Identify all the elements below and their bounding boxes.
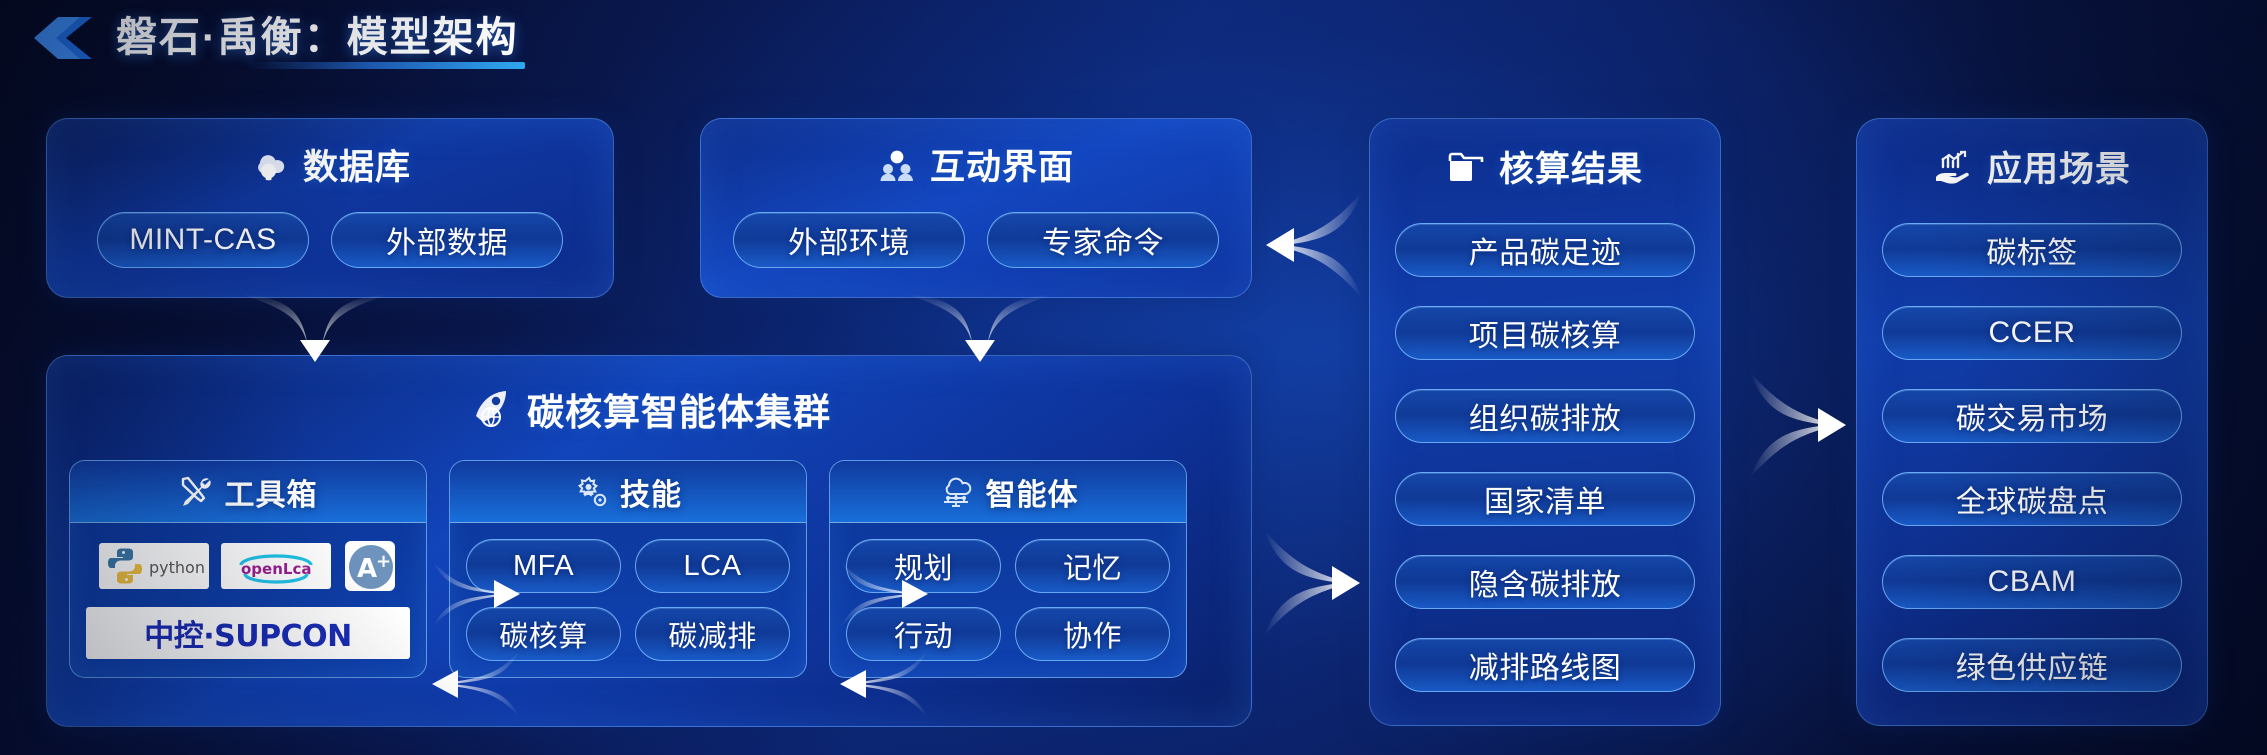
hand-chart-icon: [1933, 150, 1973, 184]
svg-text:python: python: [149, 558, 205, 577]
cloud-idea-icon: [249, 146, 289, 184]
arrow-results-to-cluster: [1262, 190, 1364, 300]
python-logo: python: [99, 543, 209, 589]
scenarios-card[interactable]: 应用场景 碳标签 CCER 碳交易市场 全球碳盘点 CBAM 绿色供应链: [1856, 118, 2208, 726]
pill-memory[interactable]: 记忆: [1015, 539, 1170, 593]
double-chevron-left-icon: [34, 14, 96, 62]
arrow-db-to-cluster: [240, 288, 390, 366]
arrow-skills-to-toolbox: [430, 648, 522, 720]
pill-expert-command[interactable]: 专家命令: [987, 212, 1219, 268]
agent-cluster-card-title: 碳核算智能体集群: [527, 382, 831, 436]
pill-mint-cas[interactable]: MINT-CAS: [97, 212, 309, 268]
arrow-skills-to-agent: [838, 558, 930, 630]
database-pill-row: MINT-CAS 外部数据: [47, 212, 613, 268]
pill-project-carbon-accounting[interactable]: 项目碳核算: [1395, 306, 1695, 360]
pill-product-carbon-footprint[interactable]: 产品碳足迹: [1395, 223, 1695, 277]
pill-embodied-carbon-emission[interactable]: 隐含碳排放: [1395, 555, 1695, 609]
aplus-logo: A +: [343, 539, 397, 593]
toolbox-title: 工具箱: [225, 470, 318, 514]
interaction-pill-row: 外部环境 专家命令: [701, 212, 1251, 268]
interaction-card[interactable]: 互动界面 外部环境 专家命令: [700, 118, 1252, 298]
supcon-logo: 中控·SUPCON: [86, 607, 410, 659]
database-card[interactable]: 数据库 MINT-CAS 外部数据: [46, 118, 614, 298]
pill-external-data[interactable]: 外部数据: [331, 212, 563, 268]
svg-text:+: +: [376, 551, 391, 572]
arrow-agent-to-skills: [838, 648, 930, 720]
database-card-title: 数据库: [303, 139, 411, 190]
cloud-computing-icon: [938, 475, 974, 509]
scenarios-pill-list: 碳标签 CCER 碳交易市场 全球碳盘点 CBAM 绿色供应链: [1857, 192, 2207, 725]
folder-icon: [1447, 150, 1485, 184]
pill-carbon-label[interactable]: 碳标签: [1882, 223, 2182, 277]
results-card-title: 核算结果: [1499, 141, 1643, 192]
pill-carbon-reduction[interactable]: 碳减排: [635, 607, 790, 661]
title-underline: [246, 62, 525, 69]
users-icon: [878, 146, 916, 184]
scenarios-card-title: 应用场景: [1987, 141, 2131, 192]
gear-user-icon: [574, 476, 608, 508]
rocket-globe-icon: [467, 386, 513, 432]
pill-cbam[interactable]: CBAM: [1882, 555, 2182, 609]
page-header: 磐石·禹衡：模型架构: [34, 14, 519, 62]
svg-text:openLca: openLca: [241, 560, 311, 578]
toolbox-subcard[interactable]: 工具箱 python: [69, 460, 427, 678]
pill-global-stocktake[interactable]: 全球碳盘点: [1882, 472, 2182, 526]
interaction-card-title: 互动界面: [930, 139, 1074, 190]
pill-national-inventory[interactable]: 国家清单: [1395, 472, 1695, 526]
results-card[interactable]: 核算结果 产品碳足迹 项目碳核算 组织碳排放 国家清单 隐含碳排放 减排路线图: [1369, 118, 1721, 726]
arrow-results-to-scenarios: [1748, 370, 1850, 480]
skills-title: 技能: [620, 470, 682, 514]
pill-lca[interactable]: LCA: [635, 539, 790, 593]
openlca-logo: openLca: [221, 543, 331, 589]
pill-organization-carbon-emission[interactable]: 组织碳排放: [1395, 389, 1695, 443]
arrow-interaction-to-cluster: [905, 288, 1055, 366]
supcon-logo-text: 中控·SUPCON: [144, 611, 351, 655]
arrow-cluster-to-results: [1262, 528, 1364, 638]
pill-carbon-trading-market[interactable]: 碳交易市场: [1882, 389, 2182, 443]
results-pill-list: 产品碳足迹 项目碳核算 组织碳排放 国家清单 隐含碳排放 减排路线图: [1370, 192, 1720, 725]
pill-green-supply-chain[interactable]: 绿色供应链: [1882, 638, 2182, 692]
agent-cluster-card[interactable]: 碳核算智能体集群 工具箱: [46, 355, 1252, 727]
toolbox-logo-row: python openLca A: [86, 539, 410, 593]
page-title: 磐石·禹衡：模型架构: [116, 14, 519, 61]
agent-title: 智能体: [986, 470, 1079, 514]
pill-external-environment[interactable]: 外部环境: [733, 212, 965, 268]
svg-text:A: A: [357, 554, 377, 584]
pill-reduction-roadmap[interactable]: 减排路线图: [1395, 638, 1695, 692]
arrow-toolbox-to-skills: [430, 558, 522, 630]
pill-ccer[interactable]: CCER: [1882, 306, 2182, 360]
tools-icon: [179, 476, 213, 508]
pill-collaboration[interactable]: 协作: [1015, 607, 1170, 661]
